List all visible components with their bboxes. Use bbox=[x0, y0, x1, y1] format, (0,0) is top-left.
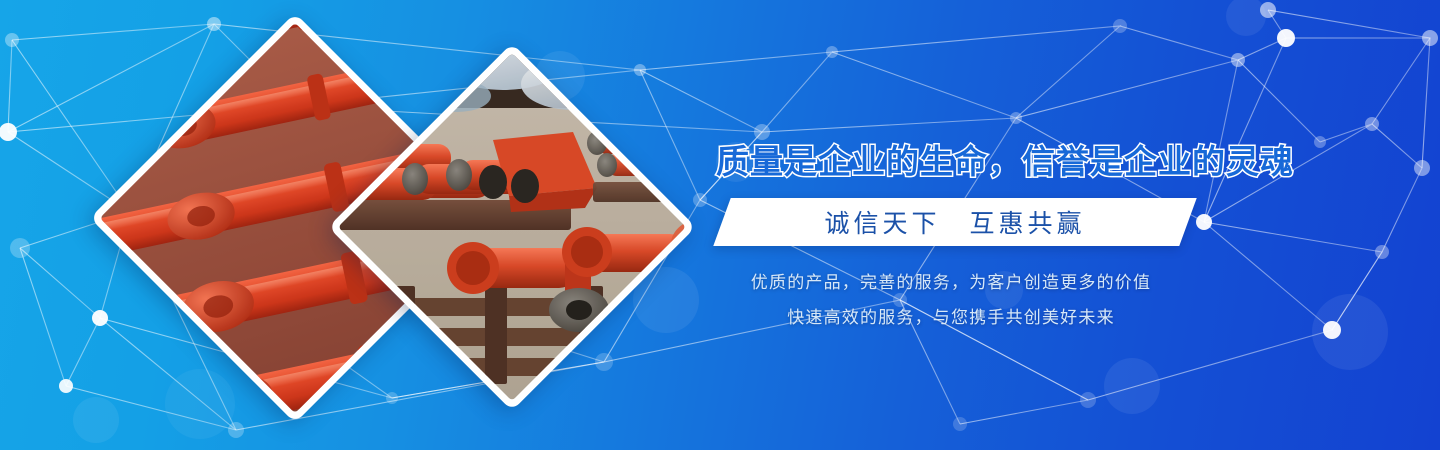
bokeh-circle bbox=[165, 369, 235, 439]
page-title: 质量是企业的生命，信誉是企业的灵魂 bbox=[716, 140, 1276, 184]
subtitle-line-2: 快速高效的服务，与您携手共创美好未来 bbox=[716, 303, 1186, 328]
bokeh-circle bbox=[73, 397, 119, 443]
promo-banner: 质量是企业的生命，信誉是企业的灵魂 诚信天下 互惠共赢 优质的产品，完善的服务，… bbox=[0, 0, 1440, 450]
bokeh-circle bbox=[1104, 358, 1160, 414]
bokeh-circle bbox=[1312, 294, 1388, 370]
subtitle-line-1: 优质的产品，完善的服务，为客户创造更多的价值 bbox=[716, 268, 1186, 293]
slogan-ribbon-text: 诚信天下 互惠共赢 bbox=[722, 198, 1188, 246]
